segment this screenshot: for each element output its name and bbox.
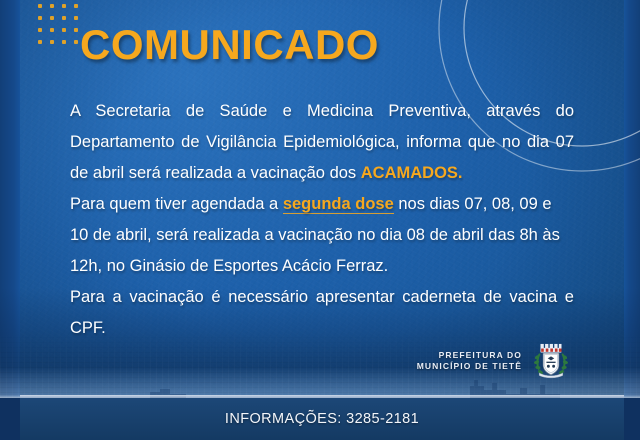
highlight-segunda-dose: segunda dose: [283, 195, 394, 214]
page-title: COMUNICADO: [80, 24, 379, 66]
prefeitura-lockup: PREFEITURA DO MUNICÍPIO DE TIETÊ: [417, 340, 572, 382]
paragraph-3-text: Para a vacinação é necessário apresentar…: [70, 288, 574, 337]
highlight-acamados: ACAMADOS.: [361, 164, 463, 182]
paragraph-1: A Secretaria de Saúde e Medicina Prevent…: [70, 96, 574, 189]
prefeitura-line-2: MUNICÍPIO DE TIETÊ: [417, 361, 522, 372]
footer-corner-right: [624, 398, 640, 440]
announcement-body: A Secretaria de Saúde e Medicina Prevent…: [70, 96, 574, 344]
communication-poster: COMUNICADO A Secretaria de Saúde e Medic…: [0, 0, 640, 440]
paragraph-3: Para a vacinação é necessário apresentar…: [70, 282, 574, 344]
paragraph-1-text: A Secretaria de Saúde e Medicina Prevent…: [70, 102, 574, 182]
coat-of-arms-icon: [530, 340, 572, 382]
paragraph-2-lead: Para quem tiver agendada a: [70, 195, 283, 213]
prefeitura-line-1: PREFEITURA DO: [417, 350, 522, 361]
footer-corner-left: [0, 398, 20, 440]
orange-dot-grid-icon: [38, 4, 86, 52]
footer-info-text: INFORMAÇÕES: 3285-2181: [225, 411, 419, 427]
footer-bar: INFORMAÇÕES: 3285-2181: [20, 398, 624, 440]
paragraph-2: Para quem tiver agendada a segunda dose …: [70, 189, 574, 282]
prefeitura-text: PREFEITURA DO MUNICÍPIO DE TIETÊ: [417, 350, 522, 372]
